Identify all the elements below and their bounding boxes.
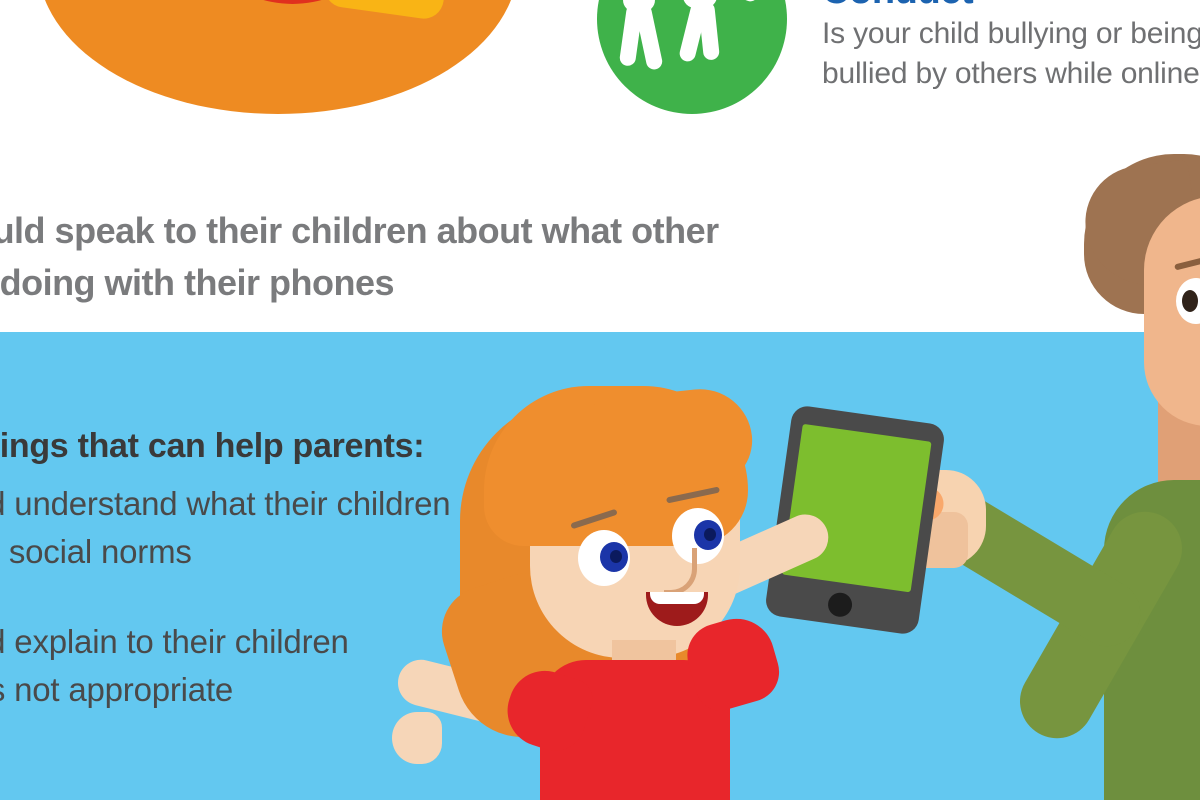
blue-section-heading: Three things that can help parents: bbox=[0, 427, 424, 466]
conduct-body-line-2: bullied by others while online? bbox=[822, 54, 1200, 94]
tip-item-2-line-2: what content is not appropriate bbox=[0, 666, 349, 714]
shirt-circle-icon bbox=[38, 0, 518, 114]
tip-item-1-line-1: Parents should understand what their chi… bbox=[0, 480, 450, 528]
top-white-section: Conduct Is your child bullying or being … bbox=[0, 0, 1200, 332]
infographic-page: Conduct Is your child bullying or being … bbox=[0, 0, 1200, 800]
top-paragraph: Parents should speak to their children a… bbox=[0, 205, 912, 309]
girl-teeth bbox=[650, 592, 704, 604]
girl-left-hand bbox=[392, 712, 442, 764]
figure-victim-leg-right bbox=[698, 1, 720, 60]
adult-pupil bbox=[1182, 290, 1198, 312]
conduct-body: Is your child bullying or being bullied … bbox=[822, 14, 1200, 94]
tip-item-2: Parents should explain to their children… bbox=[0, 618, 349, 714]
girl-pupil-right bbox=[704, 528, 716, 541]
girl-pupil-left bbox=[610, 550, 622, 563]
tablet-home-button bbox=[827, 591, 854, 618]
shirt-icon-accent-right bbox=[322, 0, 474, 21]
tip-item-1: Parents should understand what their chi… bbox=[0, 480, 450, 576]
conduct-card: Conduct Is your child bullying or being … bbox=[822, 0, 1200, 94]
tablet-screen bbox=[782, 424, 932, 593]
conduct-body-line-1: Is your child bullying or being bbox=[822, 14, 1200, 54]
top-paragraph-line-1: Parents should speak to their children a… bbox=[0, 205, 912, 257]
tip-item-1-line-2: see online and social norms bbox=[0, 528, 450, 576]
bullying-figures-icon bbox=[597, 0, 787, 114]
top-paragraph-line-2: children are doing with their phones bbox=[0, 257, 912, 309]
tip-item-2-line-1: Parents should explain to their children bbox=[0, 618, 349, 666]
conduct-title: Conduct bbox=[822, 0, 1200, 12]
